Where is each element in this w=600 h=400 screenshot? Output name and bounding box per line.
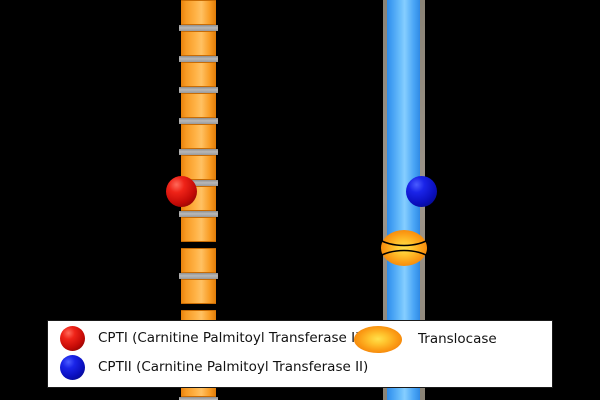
translocase-shape — [376, 228, 432, 268]
membrane-segment — [181, 248, 216, 273]
membrane-segment — [181, 93, 216, 118]
legend-box: CPTI (Carnitine Palmitoyl Transferase I)… — [47, 320, 553, 388]
translocase-channel-lines — [376, 228, 432, 268]
cptii-sphere — [406, 176, 437, 207]
membrane-segment — [181, 0, 216, 25]
blue-sphere-icon — [60, 355, 85, 380]
cpti-sphere — [166, 176, 197, 207]
legend-label-translocase: Translocase — [418, 327, 497, 352]
legend-label-cptii: CPTII (Carnitine Palmitoyl Transferase I… — [98, 355, 368, 380]
legend-item-cpti: CPTI (Carnitine Palmitoyl Transferase I) — [60, 326, 360, 351]
membrane-segment — [181, 62, 216, 87]
legend-item-translocase: Translocase — [354, 326, 497, 353]
red-sphere-icon — [60, 326, 85, 351]
legend-item-cptii: CPTII (Carnitine Palmitoyl Transferase I… — [60, 355, 368, 380]
diagram-canvas: CPTI (Carnitine Palmitoyl Transferase I)… — [0, 0, 600, 400]
legend-label-cpti: CPTI (Carnitine Palmitoyl Transferase I) — [98, 326, 360, 351]
membrane-segment — [181, 217, 216, 242]
membrane-segment — [181, 279, 216, 304]
membrane-segment — [181, 124, 216, 149]
orange-ellipse-icon — [354, 326, 402, 353]
membrane-segment — [181, 31, 216, 56]
